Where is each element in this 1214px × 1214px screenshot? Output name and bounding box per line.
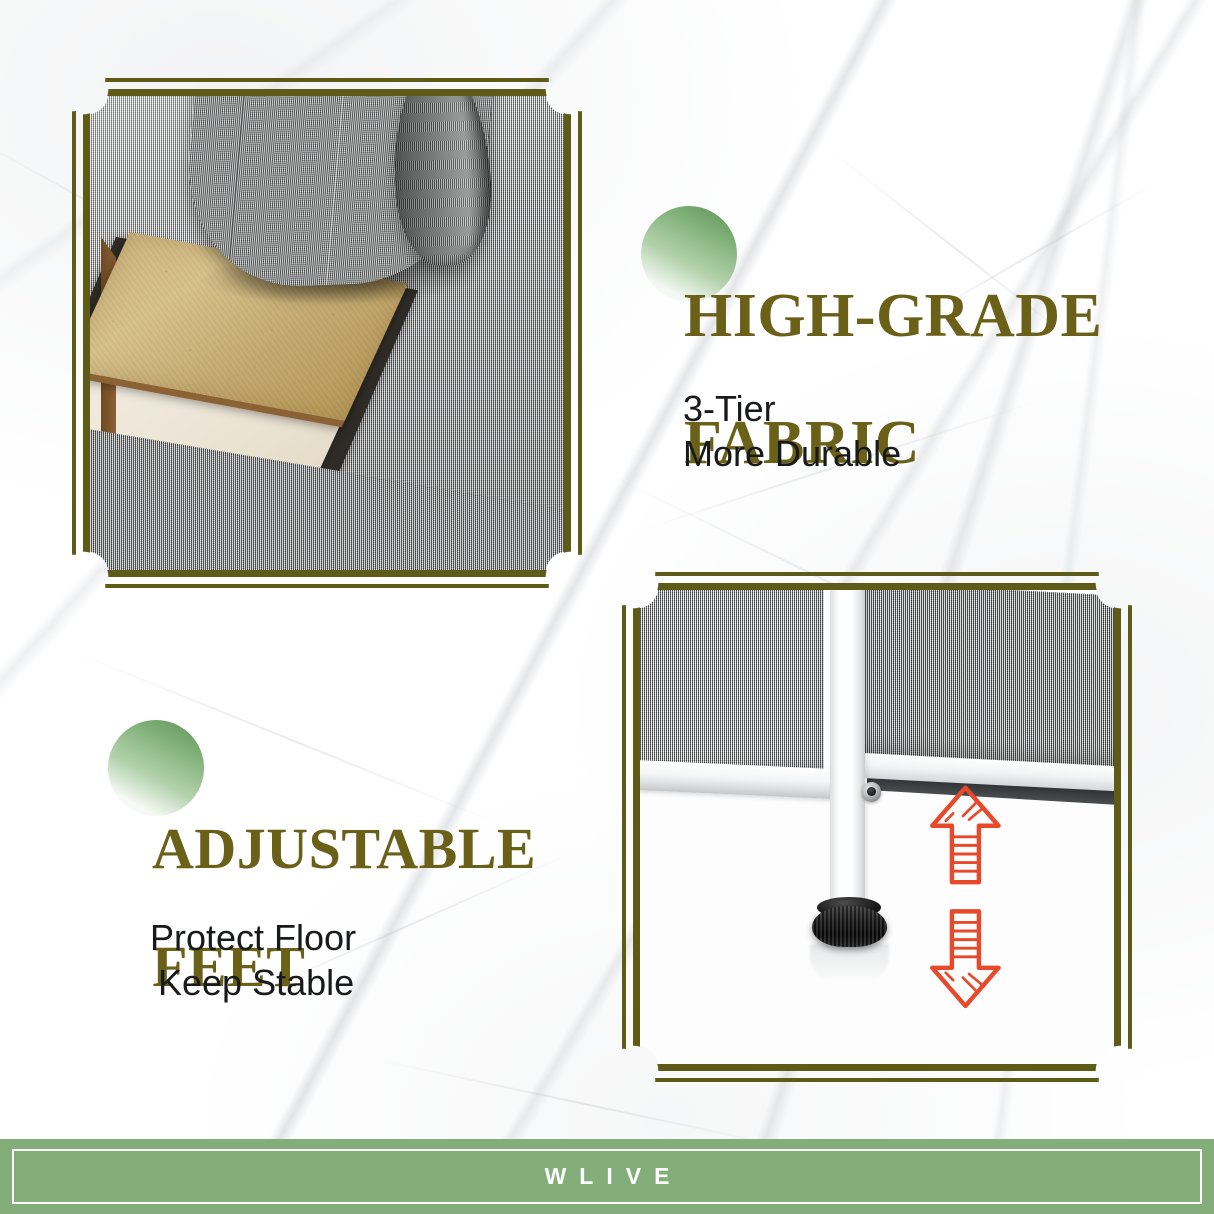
subtext-adjustable-feet: Protect Floor Keep Stable bbox=[150, 915, 356, 1006]
frame-inner-line bbox=[633, 583, 1121, 1071]
headline-high-grade-fabric: HIGH-GRADE FABRIC bbox=[684, 222, 1102, 538]
subtext-line-1: 3-Tier bbox=[683, 386, 901, 431]
brand-name: WLIVE bbox=[0, 1139, 1214, 1214]
subtext-line-2: Keep Stable bbox=[150, 960, 356, 1005]
infographic-page: HIGH-GRADE FABRIC 3-Tier More Durable AD… bbox=[0, 0, 1214, 1214]
headline-line-1: HIGH-GRADE bbox=[684, 285, 1102, 348]
brand-bar: WLIVE bbox=[0, 1139, 1214, 1214]
headline-line-1: ADJUSTABLE bbox=[152, 819, 536, 878]
feet-photo-frame bbox=[622, 572, 1132, 1082]
subtext-high-grade-fabric: 3-Tier More Durable bbox=[683, 386, 901, 477]
subtext-line-1: Protect Floor bbox=[150, 915, 356, 960]
frame-inner-line bbox=[83, 89, 571, 577]
headline-adjustable-feet: ADJUSTABLE FEET bbox=[152, 760, 536, 1056]
subtext-line-2: More Durable bbox=[683, 431, 901, 476]
fabric-photo-frame bbox=[72, 78, 582, 588]
